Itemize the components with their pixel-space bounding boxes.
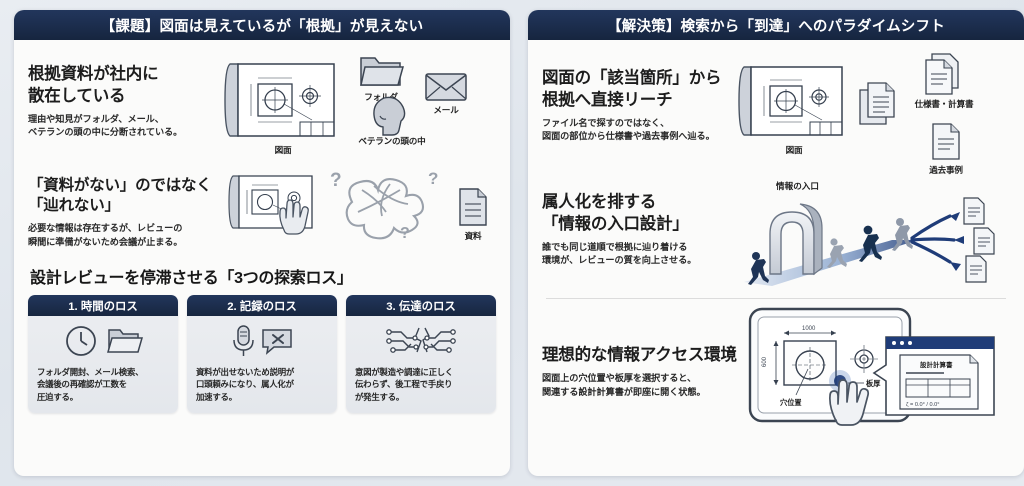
right-panel-header: 【解決策】検索から「到達」へのパラダイムシフト: [528, 10, 1024, 40]
speech-bubble-x-icon: [260, 326, 294, 356]
left-block1-body: 理由や知見がフォルダ、メール、 ベテランの頭の中に分断されている。: [28, 113, 218, 141]
tablet-viewer-illustration: 1000 600: [748, 303, 998, 427]
drawing-caption: 図面: [224, 144, 342, 156]
body-line: ベテランの頭の中に分断されている。: [28, 126, 218, 140]
svg-text:?: ?: [330, 170, 342, 191]
heading-line: 「資料がない」のではなく: [28, 176, 224, 196]
veteran-caption: ベテランの頭の中: [340, 135, 444, 147]
infographic-stage: 【課題】図面は見えているが「根拠」が見えない 根拠資料が社内に 散在している 理…: [0, 0, 1024, 486]
plate-thickness-label: 板厚: [866, 379, 881, 388]
desc-line: 意図が製造や調達に正しく: [355, 366, 488, 378]
desc-line: 資料が出せないため説明が: [196, 366, 329, 378]
body-line: 誰でも同じ道順で根拠に辿り着ける: [542, 241, 742, 255]
right-block-information-gateway: 属人化を排する 「情報の入口設計」 誰でも同じ道順で根拠に辿り着ける 環境が、レ…: [542, 180, 1010, 292]
loss-card-record-desc: 資料が出せないため説明が 口頭頼みになり、属人化が 加速する。: [187, 363, 337, 403]
gateway-journey-illustration: [742, 194, 1004, 286]
right-block3-body: 図面上の穴位置や板厚を選択すると、 関連する設計計算書が即座に開く状態。: [542, 372, 748, 400]
loss-card-record-header: 2. 記録のロス: [187, 295, 337, 316]
right-block1-body: ファイル名で探すのではなく、 図面の部位から仕様書や過去事例へ辿る。: [542, 117, 738, 145]
svg-text:?: ?: [400, 225, 410, 242]
loss-card-time[interactable]: 1. 時間のロス: [28, 295, 178, 413]
clock-icon: [63, 323, 99, 359]
desc-line: フォルダ開封、メール検索、: [37, 366, 170, 378]
right-block2-text: 属人化を排する 「情報の入口設計」 誰でも同じ道順で根拠に辿り着ける 環境が、レ…: [542, 180, 742, 268]
right-block-ideal-access: 理想的な情報アクセス環境 図面上の穴位置や板厚を選択すると、 関連する設計計算書…: [542, 303, 1010, 429]
desc-line: 圧迫する。: [37, 391, 170, 403]
heading-line: 「情報の入口設計」: [542, 214, 742, 236]
right-panel-solution: 【解決策】検索から「到達」へのパラダイムシフト 図面の「該当箇所」から 根拠へ直…: [528, 10, 1024, 476]
spec-documents-icon: 仕様書・計算書: [924, 52, 994, 110]
desc-line: 口頭頼みになり、属人化が: [196, 378, 329, 390]
left-block1-text: 根拠資料が社内に 散在している 理由や知見がフォルダ、メール、 ベテランの頭の中…: [28, 50, 218, 140]
loss-card-time-header: 1. 時間のロス: [28, 295, 178, 316]
hole-position-label: 穴位置: [780, 398, 802, 407]
body-line: ファイル名で探すのではなく、: [542, 117, 738, 131]
gateway-caption: 情報の入口: [776, 180, 819, 192]
drawing-with-hand-illustration: [228, 172, 320, 234]
loss-card-record[interactable]: 2. 記録のロス: [187, 295, 337, 413]
right-block2-body: 誰でも同じ道順で根拠に辿り着ける 環境が、レビューの質を向上させる。: [542, 241, 742, 269]
past-case-document-icon: 過去事例: [930, 122, 986, 176]
past-case-caption: 過去事例: [906, 164, 986, 176]
dim-width-label: 1000: [802, 326, 816, 332]
heading-line: 図面の「該当箇所」から: [542, 68, 738, 90]
right-block1-text: 図面の「該当箇所」から 根拠へ直接リーチ ファイル名で探すのではなく、 図面の部…: [542, 50, 738, 144]
document-caption: 資料: [456, 230, 490, 242]
loss-card-transmission-icons: [346, 319, 496, 363]
desc-line: 伝わらず、後工程で手戻り: [355, 378, 488, 390]
desc-line: が発生する。: [355, 391, 488, 403]
right-block-direct-reach: 図面の「該当箇所」から 根拠へ直接リーチ ファイル名で探すのではなく、 図面の部…: [542, 50, 1010, 180]
right-block3-text: 理想的な情報アクセス環境 図面上の穴位置や板厚を選択すると、 関連する設計計算書…: [542, 303, 748, 399]
loss-card-time-icons: [28, 319, 178, 363]
body-line: 図面上の穴位置や板厚を選択すると、: [542, 372, 748, 386]
left-block2-body: 必要な情報は存在するが、レビューの 瞬間に準備がないため会議が止まる。: [28, 222, 224, 250]
loss-section: 設計レビューを停滞させる「3つの探索ロス」 1. 時間のロス: [28, 264, 496, 413]
desc-line: 加速する。: [196, 391, 329, 403]
document-illustration: 資料: [456, 186, 490, 242]
right-block1-heading: 図面の「該当箇所」から 根拠へ直接リーチ: [542, 68, 738, 112]
tangled-thread-illustration: ? ? ?: [328, 168, 446, 238]
body-line: 瞬間に準備がないため会議が止まる。: [28, 236, 224, 250]
svg-text:?: ?: [428, 169, 438, 188]
left-block2-text: 「資料がない」のではなく 「辿れない」 必要な情報は存在するが、レビューの 瞬間…: [28, 168, 224, 250]
svg-text:ζ = 0.0° / 0.0°: ζ = 0.0° / 0.0°: [906, 402, 940, 408]
right-panel-body: 図面の「該当箇所」から 根拠へ直接リーチ ファイル名で探すのではなく、 図面の部…: [528, 40, 1024, 476]
heading-line: 属人化を排する: [542, 192, 742, 214]
loss-card-transmission-desc: 意図が製造や調達に正しく 伝わらず、後工程で手戻り が発生する。: [346, 363, 496, 403]
drawing-illustration: 図面: [224, 58, 342, 156]
left-panel-header: 【課題】図面は見えているが「根拠」が見えない: [14, 10, 510, 40]
loss-section-title: 設計レビューを停滞させる「3つの探索ロス」: [30, 264, 496, 288]
heading-line: 散在している: [28, 86, 218, 108]
section-divider: [546, 298, 1006, 299]
right-block3-heading: 理想的な情報アクセス環境: [542, 345, 748, 367]
body-line: 必要な情報は存在するが、レビューの: [28, 222, 224, 236]
heading-line: 理想的な情報アクセス環境: [542, 345, 748, 367]
spec-caption: 仕様書・計算書: [894, 98, 994, 110]
dim-height-label: 600: [762, 356, 768, 367]
drawing-illustration: 図面: [738, 62, 850, 156]
heading-line: 「辿れない」: [28, 196, 224, 216]
heading-line: 根拠へ直接リーチ: [542, 90, 738, 112]
loss-card-transmission[interactable]: 3. 伝達のロス: [346, 295, 496, 413]
drawing-caption: 図面: [738, 144, 850, 156]
loss-card-transmission-header: 3. 伝達のロス: [346, 295, 496, 316]
microphone-icon: [230, 322, 256, 360]
left-block2-heading: 「資料がない」のではなく 「辿れない」: [28, 176, 224, 217]
veteran-head-illustration: ベテランの頭の中: [370, 94, 444, 147]
heading-line: 根拠資料が社内に: [28, 64, 218, 86]
body-line: 理由や知見がフォルダ、メール、: [28, 113, 218, 127]
body-line: 環境が、レビューの質を向上させる。: [542, 254, 742, 268]
body-line: 関連する設計計算書が即座に開く状態。: [542, 386, 748, 400]
left-panel-body: 根拠資料が社内に 散在している 理由や知見がフォルダ、メール、 ベテランの頭の中…: [14, 40, 510, 476]
circuit-break-icon: [385, 322, 457, 360]
left-panel-problem: 【課題】図面は見えているが「根拠」が見えない 根拠資料が社内に 散在している 理…: [14, 10, 510, 476]
calc-doc-label: 設計計算書: [920, 360, 953, 369]
left-block1-heading: 根拠資料が社内に 散在している: [28, 64, 218, 108]
body-line: 図面の部位から仕様書や過去事例へ辿る。: [542, 130, 738, 144]
left-block-scattered-docs: 根拠資料が社内に 散在している 理由や知見がフォルダ、メール、 ベテランの頭の中…: [28, 50, 496, 168]
folder-icon: [103, 324, 143, 358]
loss-card-record-icons: [187, 319, 337, 363]
left-block-cannot-trace: 「資料がない」のではなく 「辿れない」 必要な情報は存在するが、レビューの 瞬間…: [28, 168, 496, 260]
desc-line: 会議後の再確認が工数を: [37, 378, 170, 390]
loss-card-time-desc: フォルダ開封、メール検索、 会議後の再確認が工数を 圧迫する。: [28, 363, 178, 403]
right-block2-heading: 属人化を排する 「情報の入口設計」: [542, 192, 742, 236]
loss-card-row: 1. 時間のロス: [28, 295, 496, 413]
